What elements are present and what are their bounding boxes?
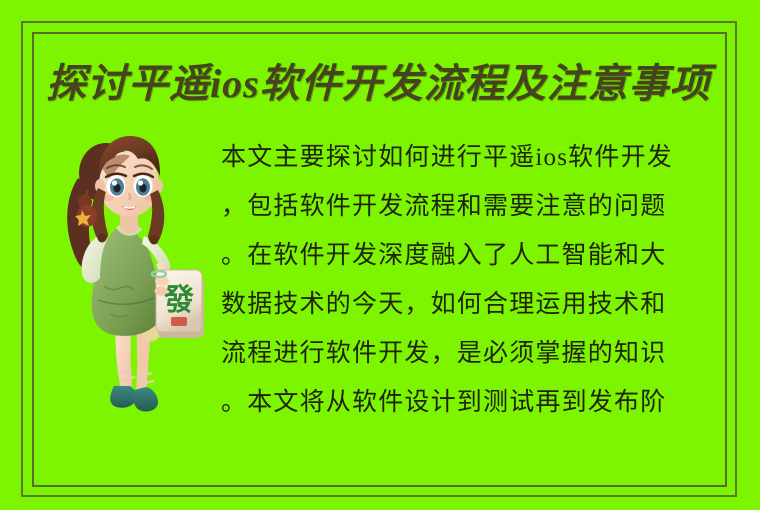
girl-illustration: 發 xyxy=(58,118,208,428)
tile-character: 發 xyxy=(163,283,194,318)
poster-canvas: 探讨平遥ios软件开发流程及注意事项 本文主要探讨如何进行平遥ios软件开发 ，… xyxy=(0,0,760,510)
poster-body-text: 本文主要探讨如何进行平遥ios软件开发 ，包括软件开发流程和需要注意的问题 。在… xyxy=(221,133,726,427)
body-line: ，包括软件开发流程和需要注意的问题 xyxy=(221,182,726,231)
body-line: 本文主要探讨如何进行平遥ios软件开发 xyxy=(221,133,726,182)
body-line: 。在软件开发深度融入了人工智能和大 xyxy=(221,231,726,280)
body-line: 数据技术的今天，如何合理运用技术和 xyxy=(221,280,726,329)
body-line: 流程进行软件开发，是必须掌握的知识 xyxy=(221,329,726,378)
shoes xyxy=(110,370,158,411)
poster-title: 探讨平遥ios软件开发流程及注意事项 xyxy=(46,58,706,112)
body-line: 。本文将从软件设计到测试再到发布阶 xyxy=(221,378,726,427)
